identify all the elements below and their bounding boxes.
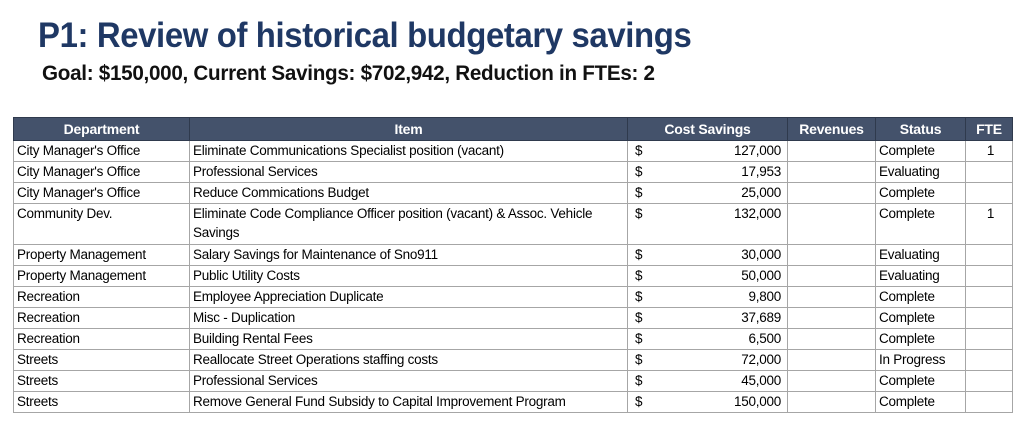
cell-department: Recreation	[14, 308, 190, 329]
cell-cost-savings: $6,500	[628, 329, 788, 350]
table-row[interactable]: City Manager's OfficeProfessional Servic…	[14, 162, 1013, 183]
cell-revenues	[788, 204, 876, 245]
cell-cost-savings: $150,000	[628, 392, 788, 413]
cell-item: Employee Appreciation Duplicate	[190, 287, 628, 308]
status-badge: Evaluating	[876, 245, 966, 266]
currency-symbol: $	[635, 266, 642, 285]
status-badge: Complete	[876, 141, 966, 162]
cell-cost-savings: $9,800	[628, 287, 788, 308]
table-row[interactable]: Property ManagementPublic Utility Costs$…	[14, 266, 1013, 287]
cell-revenues	[788, 183, 876, 204]
savings-table-container: Department Item Cost Savings Revenues St…	[13, 117, 1012, 413]
table-row[interactable]: RecreationMisc - Duplication$37,689Compl…	[14, 308, 1013, 329]
cost-savings-value: 132,000	[734, 204, 781, 223]
cost-savings-value: 17,953	[741, 162, 781, 181]
currency-symbol: $	[635, 371, 642, 390]
cost-savings-value: 45,000	[741, 371, 781, 390]
column-header-item[interactable]: Item	[190, 118, 628, 141]
cell-fte	[966, 350, 1013, 371]
cell-item: Professional Services	[190, 162, 628, 183]
cost-savings-value: 9,800	[748, 287, 781, 306]
cost-savings-value: 25,000	[741, 183, 781, 202]
cell-fte	[966, 162, 1013, 183]
cell-item: Eliminate Communications Specialist posi…	[190, 141, 628, 162]
currency-symbol: $	[635, 204, 642, 223]
cell-department: Property Management	[14, 245, 190, 266]
cell-revenues	[788, 162, 876, 183]
cell-fte: 1	[966, 141, 1013, 162]
table-body: City Manager's OfficeEliminate Communica…	[14, 141, 1013, 413]
cost-savings-value: 127,000	[734, 141, 781, 160]
currency-symbol: $	[635, 350, 642, 369]
cell-item: Reallocate Street Operations staffing co…	[190, 350, 628, 371]
cell-revenues	[788, 329, 876, 350]
cell-revenues	[788, 266, 876, 287]
cell-department: Community Dev.	[14, 204, 190, 245]
currency-symbol: $	[635, 183, 642, 202]
cell-revenues	[788, 392, 876, 413]
cell-fte	[966, 392, 1013, 413]
column-header-cost-savings[interactable]: Cost Savings	[628, 118, 788, 141]
cell-item: Salary Savings for Maintenance of Sno911	[190, 245, 628, 266]
table-row[interactable]: StreetsProfessional Services$45,000Compl…	[14, 371, 1013, 392]
cell-cost-savings: $37,689	[628, 308, 788, 329]
status-badge: Complete	[876, 371, 966, 392]
cell-revenues	[788, 350, 876, 371]
cell-department: Streets	[14, 371, 190, 392]
status-badge: In Progress	[876, 350, 966, 371]
table-row[interactable]: RecreationEmployee Appreciation Duplicat…	[14, 287, 1013, 308]
cell-item: Eliminate Code Compliance Officer positi…	[190, 204, 628, 245]
currency-symbol: $	[635, 392, 642, 411]
cost-savings-value: 6,500	[748, 329, 781, 348]
table-row[interactable]: StreetsReallocate Street Operations staf…	[14, 350, 1013, 371]
cell-revenues	[788, 245, 876, 266]
cell-item: Misc - Duplication	[190, 308, 628, 329]
page-subtitle: Goal: $150,000, Current Savings: $702,94…	[42, 60, 655, 86]
cell-fte	[966, 245, 1013, 266]
cell-department: Recreation	[14, 329, 190, 350]
table-row[interactable]: Property ManagementSalary Savings for Ma…	[14, 245, 1013, 266]
table-row[interactable]: City Manager's OfficeReduce Commications…	[14, 183, 1013, 204]
cell-fte	[966, 308, 1013, 329]
status-badge: Complete	[876, 204, 966, 245]
cell-department: Property Management	[14, 266, 190, 287]
cell-cost-savings: $50,000	[628, 266, 788, 287]
currency-symbol: $	[635, 245, 642, 264]
status-badge: Evaluating	[876, 266, 966, 287]
currency-symbol: $	[635, 308, 642, 327]
currency-symbol: $	[635, 329, 642, 348]
table-row[interactable]: StreetsRemove General Fund Subsidy to Ca…	[14, 392, 1013, 413]
status-badge: Complete	[876, 392, 966, 413]
cell-department: Streets	[14, 392, 190, 413]
cell-cost-savings: $72,000	[628, 350, 788, 371]
cell-department: City Manager's Office	[14, 162, 190, 183]
cost-savings-value: 37,689	[741, 308, 781, 327]
slide-canvas: P1: Review of historical budgetary savin…	[0, 0, 1024, 438]
cell-revenues	[788, 141, 876, 162]
cell-fte: 1	[966, 204, 1013, 245]
table-row[interactable]: Community Dev.Eliminate Code Compliance …	[14, 204, 1013, 245]
cell-cost-savings: $30,000	[628, 245, 788, 266]
cell-revenues	[788, 308, 876, 329]
cell-cost-savings: $25,000	[628, 183, 788, 204]
cell-revenues	[788, 371, 876, 392]
cell-cost-savings: $17,953	[628, 162, 788, 183]
currency-symbol: $	[635, 141, 642, 160]
cell-revenues	[788, 287, 876, 308]
column-header-revenues[interactable]: Revenues	[788, 118, 876, 141]
status-badge: Complete	[876, 287, 966, 308]
cell-department: City Manager's Office	[14, 141, 190, 162]
table-row[interactable]: RecreationBuilding Rental Fees$6,500Comp…	[14, 329, 1013, 350]
status-badge: Complete	[876, 329, 966, 350]
status-badge: Complete	[876, 183, 966, 204]
cell-department: Streets	[14, 350, 190, 371]
column-header-status[interactable]: Status	[876, 118, 966, 141]
cell-fte	[966, 371, 1013, 392]
cell-fte	[966, 329, 1013, 350]
status-badge: Complete	[876, 308, 966, 329]
cell-item: Building Rental Fees	[190, 329, 628, 350]
table-header-row: Department Item Cost Savings Revenues St…	[14, 118, 1013, 141]
currency-symbol: $	[635, 162, 642, 181]
table-header: Department Item Cost Savings Revenues St…	[14, 118, 1013, 141]
status-badge: Evaluating	[876, 162, 966, 183]
cell-item: Professional Services	[190, 371, 628, 392]
cost-savings-value: 72,000	[741, 350, 781, 369]
cost-savings-value: 30,000	[741, 245, 781, 264]
cell-fte	[966, 287, 1013, 308]
cell-department: City Manager's Office	[14, 183, 190, 204]
cell-cost-savings: $45,000	[628, 371, 788, 392]
cost-savings-value: 50,000	[741, 266, 781, 285]
cost-savings-value: 150,000	[734, 392, 781, 411]
page-title: P1: Review of historical budgetary savin…	[38, 16, 691, 56]
cell-item: Public Utility Costs	[190, 266, 628, 287]
savings-table: Department Item Cost Savings Revenues St…	[13, 117, 1013, 413]
currency-symbol: $	[635, 287, 642, 306]
cell-item: Reduce Commications Budget	[190, 183, 628, 204]
cell-fte	[966, 183, 1013, 204]
column-header-department[interactable]: Department	[14, 118, 190, 141]
cell-cost-savings: $127,000	[628, 141, 788, 162]
table-row[interactable]: City Manager's OfficeEliminate Communica…	[14, 141, 1013, 162]
cell-cost-savings: $132,000	[628, 204, 788, 245]
cell-item: Remove General Fund Subsidy to Capital I…	[190, 392, 628, 413]
cell-fte	[966, 266, 1013, 287]
column-header-fte[interactable]: FTE	[966, 118, 1013, 141]
cell-department: Recreation	[14, 287, 190, 308]
